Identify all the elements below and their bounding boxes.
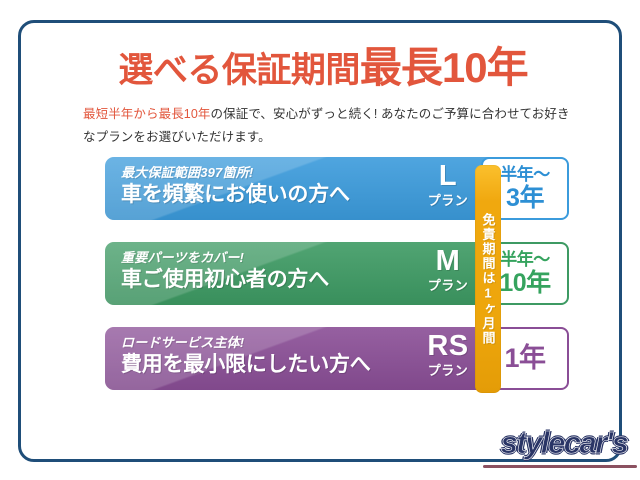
plan-copy: 重要パーツをカバー! 車ご使用初心者の方へ xyxy=(121,251,329,294)
banner-frame: 選べる保証期間最長10年 最短半年から最長10年の保証で、安心がずっと続く! あ… xyxy=(18,20,622,462)
page-title: 選べる保証期間最長10年 xyxy=(21,47,625,89)
brand-logo-text: stylecar's xyxy=(491,427,637,460)
plan-list: 最大保証範囲397箇所! 車を頻繁にお使いの方へ L プラン 重要パーツをカバー… xyxy=(83,157,573,401)
lead-paragraph: 最短半年から最長10年の保証で、安心がずっと続く! あなたのご予算に合わせてお好… xyxy=(83,103,573,149)
brand-logo-underline xyxy=(483,465,637,468)
plan-target: 車ご使用初心者の方へ xyxy=(121,267,329,293)
duration-top: 半年～ xyxy=(500,251,550,269)
plan-target: 費用を最小限にしたい方へ xyxy=(121,352,371,378)
duration-bottom: 1年 xyxy=(504,344,545,372)
plan-tagline: ロードサービス主体! xyxy=(121,336,371,350)
plan-row-m[interactable]: 重要パーツをカバー! 車ご使用初心者の方へ M プラン xyxy=(105,242,505,305)
brand-logo: stylecar's xyxy=(491,427,637,479)
duration-bottom: 10年 xyxy=(499,270,550,296)
duration-bottom: 3年 xyxy=(506,185,544,211)
plan-copy: 最大保証範囲397箇所! 車を頻繁にお使いの方へ xyxy=(121,166,350,209)
plan-row-rs[interactable]: ロードサービス主体! 費用を最小限にしたい方へ RS プラン xyxy=(105,327,505,390)
deductible-period-label: 免責期間は1ヶ月間 xyxy=(482,213,495,346)
deductible-period-strip: 免責期間は1ヶ月間 xyxy=(475,165,501,393)
lead-highlight: 最短半年から最長10年 xyxy=(83,107,211,121)
headline-main: 選べる保証期間 xyxy=(118,51,360,90)
plan-row-l[interactable]: 最大保証範囲397箇所! 車を頻繁にお使いの方へ L プラン xyxy=(105,157,505,220)
duration-top: 半年～ xyxy=(500,166,550,184)
plan-target: 車を頻繁にお使いの方へ xyxy=(121,182,350,208)
plan-tagline: 最大保証範囲397箇所! xyxy=(121,166,350,180)
plan-copy: ロードサービス主体! 費用を最小限にしたい方へ xyxy=(121,336,371,379)
advertisement-banner: 選べる保証期間最長10年 最短半年から最長10年の保証で、安心がずっと続く! あ… xyxy=(0,0,640,480)
headline-emphasis: 最長10年 xyxy=(360,44,528,91)
plan-tagline: 重要パーツをカバー! xyxy=(121,251,329,265)
